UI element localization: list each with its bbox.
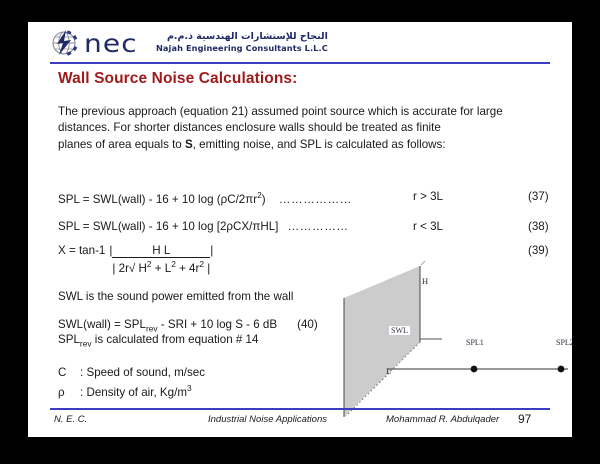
equation-38-expression: SPL = SWL(wall) - 16 + 10 log [2ρCX/πHL]	[58, 220, 278, 233]
equation-39-denominator-prefix: | 2r√ H	[112, 262, 147, 275]
intro-symbol-s: S	[185, 138, 193, 151]
spl1-point-marker	[471, 366, 478, 373]
slide-frame: nec النجاح للإستشارات الهندسية ذ.م.م Naj…	[0, 0, 600, 464]
page-footer: N. E. C. Industrial Noise Applications M…	[28, 414, 572, 434]
footer-author: Mohammad R. Abdulqader	[386, 414, 499, 425]
nec-wordmark: nec	[84, 31, 138, 56]
definition-text: Density of air, Kg/m	[86, 386, 187, 399]
equation-39-numerator: H L	[112, 244, 210, 258]
footer-page-number: 97	[518, 412, 531, 426]
symbol-definitions: C: Speed of sound, m/sec ρ: Density of a…	[58, 362, 205, 401]
equation-39-denominator-end: |	[204, 262, 210, 275]
nec-gear-bolt-logo-icon	[50, 28, 80, 58]
equation-39-denominator-mid: + L	[152, 262, 172, 275]
definition-symbol: ρ	[58, 385, 80, 402]
equation-39-denominator: | 2r√ H2 + L2 + 4r2 |	[112, 258, 210, 275]
wall-label-height: H	[422, 276, 428, 286]
page-title: Wall Source Noise Calculations:	[58, 70, 297, 88]
equation-38-row: SPL = SWL(wall) - 16 + 10 log [2ρCX/πHL]…	[58, 220, 563, 233]
definition-colon: :	[80, 366, 83, 379]
equation-37-lhs: SPL = SWL(wall) - 16 + 10 log (ρC/2πr	[58, 193, 257, 206]
definition-row: C: Speed of sound, m/sec	[58, 362, 205, 382]
equation-39-lhs: X = tan-1	[58, 244, 105, 257]
equation-38-leader-dots: ……………	[288, 220, 349, 233]
header-divider	[50, 62, 550, 64]
equation-37-row: SPL = SWL(wall) - 16 + 10 log (ρC/2πr2) …	[58, 190, 563, 206]
equation-37-number: (37)	[528, 190, 549, 203]
definition-text: Speed of sound, m/sec	[86, 366, 205, 379]
equation-40-note: SPLrev is calculated from equation # 14	[58, 333, 258, 348]
equation-37-leader-dots: ………………	[279, 193, 352, 206]
company-name-block: النجاح للإستشارات الهندسية ذ.م.م Najah E…	[156, 32, 328, 53]
footer-organization: N. E. C.	[54, 414, 87, 425]
definition-exponent: 3	[187, 383, 192, 393]
footer-divider	[50, 408, 550, 410]
company-name-english: Najah Engineering Consultants L.L.C	[156, 44, 328, 53]
equation-40-number: (40)	[297, 318, 318, 331]
equation-40-note-b: is calculated from equation # 14	[92, 333, 259, 346]
equation-37-expression: SPL = SWL(wall) - 16 + 10 log (ρC/2πr2)	[58, 190, 266, 206]
swl-definition-note: SWL is the sound power emitted from the …	[58, 290, 293, 303]
page-header: nec النجاح للإستشارات الهندسية ذ.م.م Naj…	[28, 22, 572, 66]
diagram-canvas	[328, 250, 572, 425]
equation-37-condition: r > 3L	[413, 190, 443, 203]
slide-page: nec النجاح للإستشارات الهندسية ذ.م.م Naj…	[28, 22, 572, 437]
equation-40-row: SWL(wall) = SPLrev - SRI + 10 log S - 6 …	[58, 318, 318, 333]
wall-source-noise-diagram: SWL H L SPL1 SPL2	[328, 250, 572, 425]
equation-39-right-bar: |	[210, 244, 213, 257]
wall-label-length: L	[386, 366, 391, 376]
definition-row: ρ: Density of air, Kg/m3	[58, 382, 205, 402]
intro-paragraph: The previous approach (equation 21) assu…	[58, 104, 558, 153]
spl2-point-marker	[558, 366, 565, 373]
intro-line-2: distances. For shorter distances enclosu…	[58, 121, 441, 134]
equation-37-close: )	[262, 193, 266, 206]
equation-40-lhs-a: SWL(wall) = SPL	[58, 318, 146, 331]
definition-symbol: C	[58, 365, 80, 382]
definition-colon: :	[80, 386, 83, 399]
company-name-arabic: النجاح للإستشارات الهندسية ذ.م.م	[156, 32, 328, 43]
equation-39-row: X = tan-1|H L| 2r√ H2 + L2 + 4r2 || (39)	[58, 244, 213, 275]
equation-38-condition: r < 3L	[413, 220, 443, 233]
wall-label-swl: SWL	[389, 326, 410, 335]
equation-40-lhs-b: - SRI + 10 log S - 6 dB	[158, 318, 278, 331]
equation-40-subscript: rev	[146, 323, 158, 333]
intro-line-3-part-b: , emitting noise, and SPL is calculated …	[193, 138, 446, 151]
footer-document-title: Industrial Noise Applications	[208, 414, 327, 425]
intro-line-1: The previous approach (equation 21) assu…	[58, 105, 503, 118]
wall-plane-shape	[344, 266, 420, 417]
company-logo: nec النجاح للإستشارات الهندسية ذ.م.م Naj…	[50, 28, 328, 58]
equation-38-number: (38)	[528, 220, 549, 233]
equation-39-denominator-mid2: + 4r	[176, 262, 200, 275]
point-label-spl2: SPL2	[556, 338, 572, 347]
intro-line-3-part-a: planes of area equals to	[58, 138, 185, 151]
wall-top-tick	[421, 261, 425, 265]
equation-40-note-a: SPL	[58, 333, 80, 346]
equation-39-fraction: H L| 2r√ H2 + L2 + 4r2 |	[112, 244, 210, 275]
point-label-spl1: SPL1	[466, 338, 484, 347]
equation-40-note-subscript: rev	[80, 338, 92, 348]
